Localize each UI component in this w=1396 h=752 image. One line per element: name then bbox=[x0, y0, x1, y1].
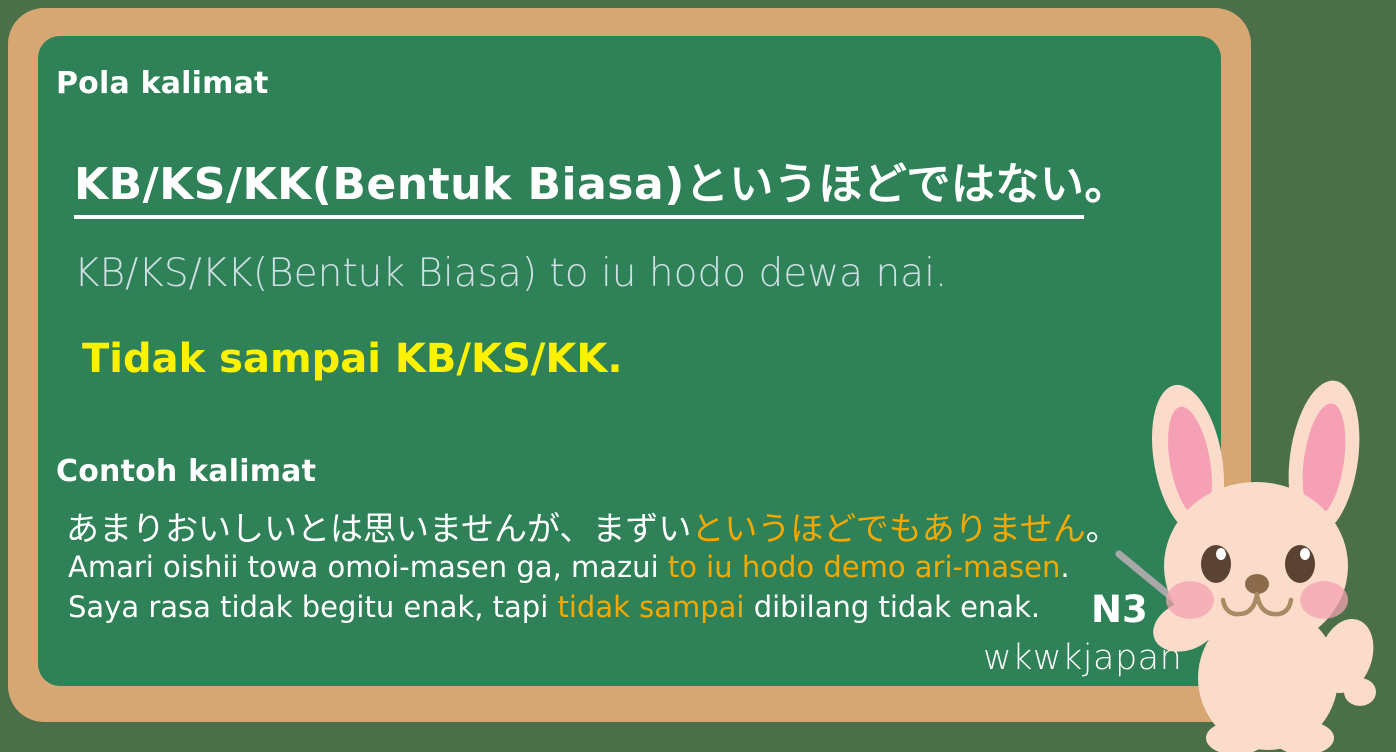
example-romaji-sentence: Amari oishii towa omoi-masen ga, mazui t… bbox=[68, 550, 1070, 584]
example-romaji-plain-end: . bbox=[1060, 550, 1069, 584]
pattern-section-label: Pola kalimat bbox=[56, 66, 269, 101]
blackboard-frame: Pola kalimat KB/KS/KK(Bentuk Biasa)というほど… bbox=[8, 8, 1251, 722]
pattern-main-sentence: KB/KS/KK(Bentuk Biasa)というほどではない。 bbox=[74, 148, 1129, 212]
example-section-label: Contoh kalimat bbox=[56, 454, 316, 489]
example-jp-plain-start: あまりおいしいとは思いませんが、まずい bbox=[66, 509, 691, 548]
example-jp-plain-end: 。 bbox=[1086, 509, 1119, 548]
pattern-main-period: 。 bbox=[1084, 159, 1129, 210]
example-id-highlight: tidak sampai bbox=[557, 590, 744, 624]
pattern-main-underlined-text: KB/KS/KK(Bentuk Biasa)というほどではない bbox=[74, 159, 1084, 219]
screenshot-canvas: Pola kalimat KB/KS/KK(Bentuk Biasa)というほど… bbox=[0, 0, 1396, 752]
blackboard-surface: Pola kalimat KB/KS/KK(Bentuk Biasa)というほど… bbox=[38, 36, 1221, 686]
pattern-romaji-text: KB/KS/KK(Bentuk Biasa) to iu hodo dewa n… bbox=[74, 251, 947, 296]
example-jp-highlight: というほどでもありません bbox=[691, 509, 1085, 548]
example-id-plain-end: dibilang tidak enak. bbox=[744, 590, 1040, 624]
example-id-plain-start: Saya rasa tidak begitu enak, tapi bbox=[68, 590, 557, 624]
example-japanese-sentence: あまりおいしいとは思いませんが、まずいというほどでもありません。 bbox=[66, 502, 1119, 550]
example-indonesian-sentence: Saya rasa tidak begitu enak, tapi tidak … bbox=[68, 590, 1040, 624]
example-romaji-plain-start: Amari oishii towa omoi-masen ga, mazui bbox=[68, 550, 668, 584]
rabbit-mascot bbox=[1128, 378, 1396, 752]
example-romaji-highlight: to iu hodo demo ari-masen bbox=[668, 550, 1061, 584]
pattern-meaning-text: Tidak sampai KB/KS/KK. bbox=[82, 336, 623, 382]
